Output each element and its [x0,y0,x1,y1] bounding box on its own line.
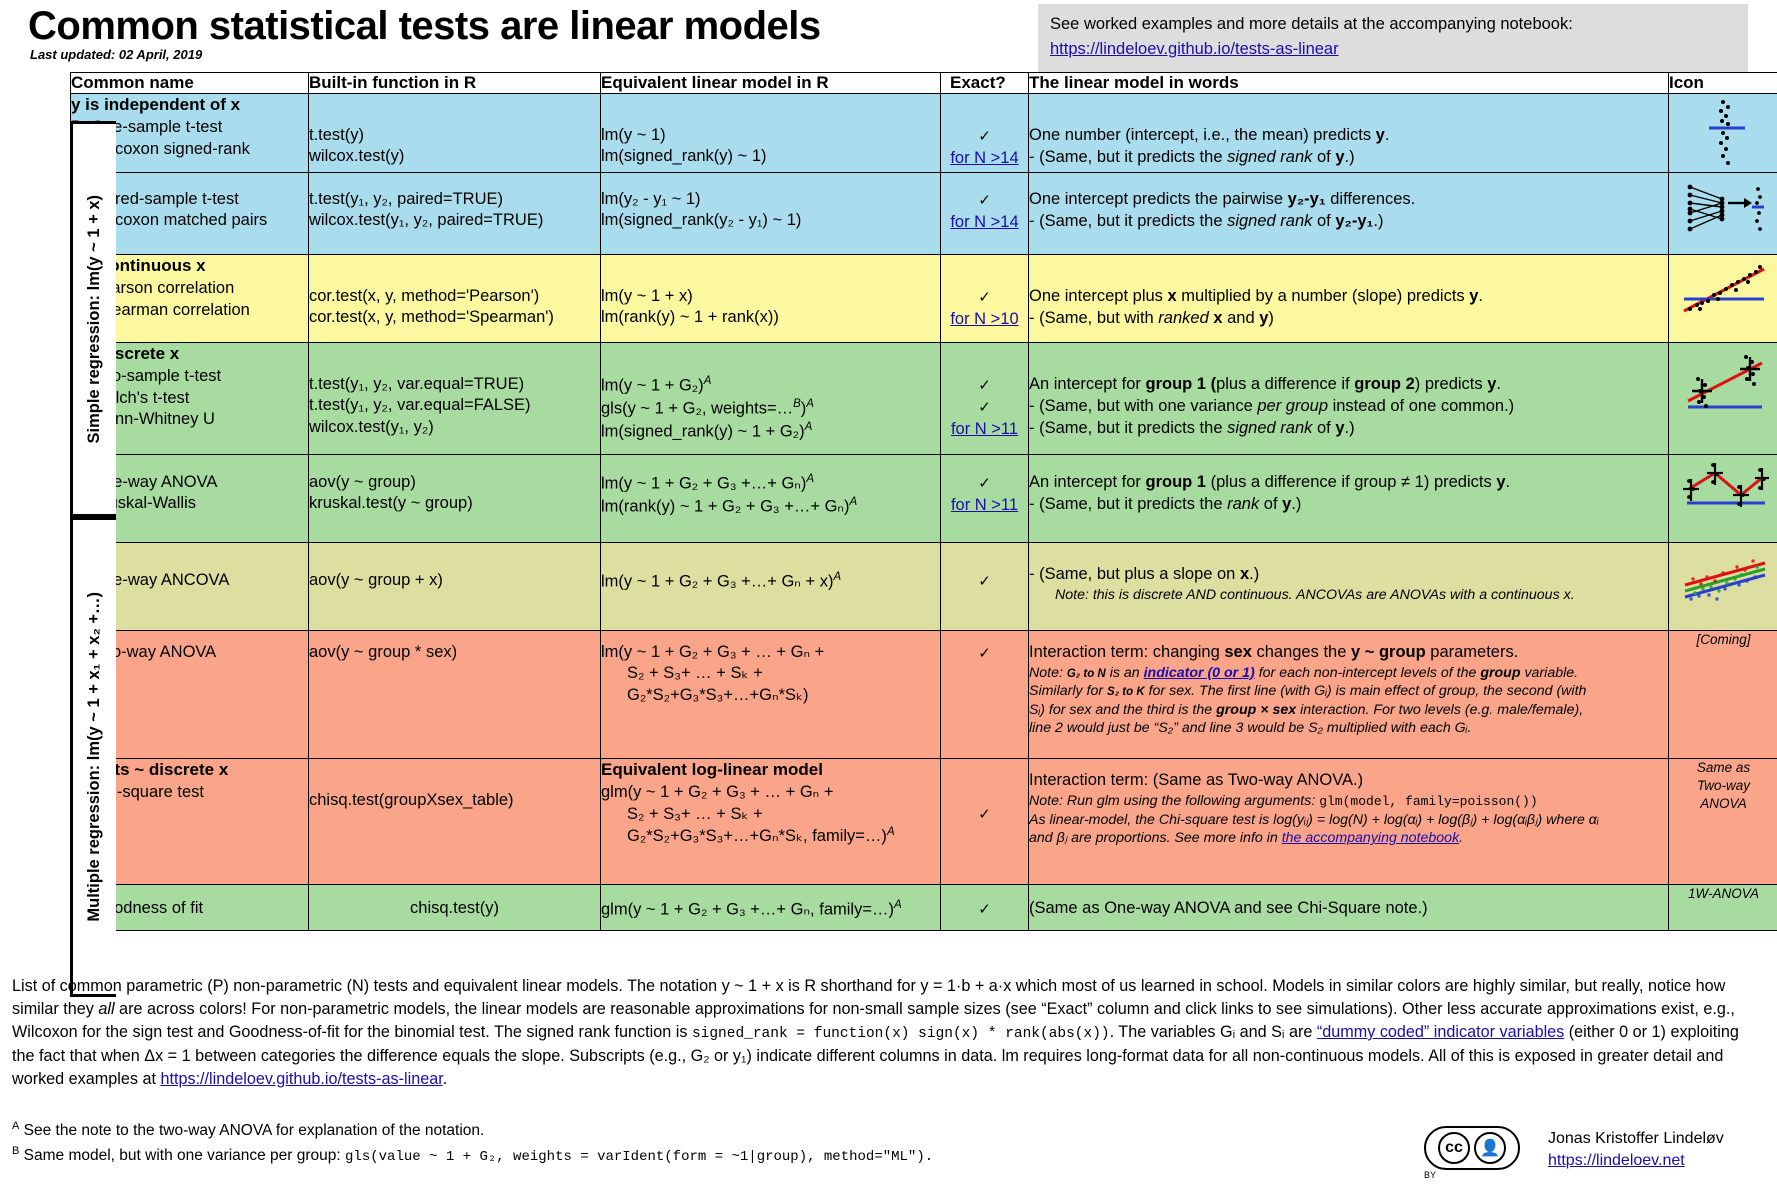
cell-linear-model: lm(y₂ - y₁ ~ 1) lm(signed_rank(y₂ - y₁) … [601,173,941,255]
model-heading: Equivalent log-linear model [601,759,940,781]
check-icon: ✓ [978,128,991,145]
model-line: lm(rank(y) ~ 1 + G₂ + G₃ +…+ Gₙ) [601,497,849,515]
check-icon: ✓ [978,645,991,662]
func-line: chisq.test(y) [410,899,499,917]
col-common-name: Common name [71,73,309,94]
check-icon: ✓ [978,475,991,492]
table-row: P: One-way ANCOVA aov(y ~ group + x) lm(… [71,543,1777,631]
last-updated: Last updated: 02 April, 2019 [30,47,202,62]
func-line: cor.test(x, y, method='Spearman') [309,308,554,326]
cell-words: An intercept for group 1 (plus a differe… [1029,455,1669,543]
cell-exact: ✓ for N >14 [941,173,1029,255]
author-block: Jonas Kristoffer Lindeløv https://lindel… [1548,1128,1724,1173]
col-builtin-function: Built-in function in R [309,73,601,94]
model-line: glm(y ~ 1 + G₂ + G₃ +…+ Gₙ, family=…) [601,901,894,919]
paired-ttest-icon [1682,173,1766,239]
exact-link[interactable]: for N >14 [950,213,1018,231]
creative-commons-badge: cc 👤 [1424,1126,1520,1170]
cell-icon: Same as Two-way ANOVA [1669,759,1777,885]
cell-words: Interaction term: (Same as Two-way ANOVA… [1029,759,1669,885]
section-label-multiple-text: Multiple regression: lm(y ~ 1 + x₁ + x₂ … [85,592,104,922]
cell-exact: ✓ for N >11 [941,455,1029,543]
footnote-b: B Same model, but with one variance per … [12,1143,933,1169]
cell-builtin-function: t.test(y) wilcox.test(y) [309,94,601,173]
cell-linear-model: lm(y ~ 1 + G₂ + G₃ +…+ Gₙ)A lm(rank(y) ~… [601,455,941,543]
func-line: aov(y ~ group * sex) [309,643,457,661]
model-line: G₂*S₂+G₃*S₃+…+Gₙ*Sₖ) [601,685,809,706]
table-row: Counts ~ discrete x N: Chi-square test c… [71,759,1777,885]
two-sample-ttest-icon [1678,343,1770,423]
func-line: wilcox.test(y) [309,147,404,165]
cell-linear-model: lm(y ~ 1 + G₂ + G₃ + … + Gₙ + S₂ + S₃+ …… [601,631,941,759]
cell-words: (Same as One-way ANOVA and see Chi-Squar… [1029,885,1669,931]
cell-builtin-function: chisq.test(groupXsex_table) [309,759,601,885]
exact-link[interactable]: for N >10 [950,310,1018,328]
dummy-coded-link[interactable]: “dummy coded” indicator variables [1317,1023,1564,1041]
table-row: P: One-way ANOVA N: Kruskal-Wallis aov(y… [71,455,1777,543]
model-line: glm(y ~ 1 + G₂ + G₃ + … + Gₙ + [601,783,833,801]
cell-linear-model: lm(y ~ 1 + G₂)A gls(y ~ 1 + G₂, weights=… [601,343,941,455]
one-way-anova-icon [1677,455,1771,525]
cell-linear-model: glm(y ~ 1 + G₂ + G₃ +…+ Gₙ, family=…)A [601,885,941,931]
icon-same-as-label: Same as Two-way ANOVA [1697,760,1750,811]
tests-as-linear-link[interactable]: https://lindeloev.github.io/tests-as-lin… [160,1070,442,1088]
check-icon: ✓ [978,289,991,306]
table-row: N: Goodness of fit chisq.test(y) glm(y ~… [71,885,1777,931]
cell-builtin-function: t.test(y₁, y₂, paired=TRUE) wilcox.test(… [309,173,601,255]
header: Common statistical tests are linear mode… [18,0,1759,72]
cell-icon [1669,173,1777,255]
cell-icon [1669,455,1777,543]
func-line: wilcox.test(y₁, y₂, paired=TRUE) [309,211,543,229]
model-line: lm(signed_rank(y₂ - y₁) ~ 1) [601,211,801,229]
cell-exact: ✓ for N >10 [941,255,1029,343]
func-line: t.test(y₁, y₂, paired=TRUE) [309,190,503,208]
func-line: t.test(y) [309,126,364,144]
footer-description: List of common parametric (P) non-parame… [12,975,1764,1091]
notebook-link[interactable]: https://lindeloev.github.io/tests-as-lin… [1050,40,1339,58]
func-line: kruskal.test(y ~ group) [309,494,473,512]
col-icon: Icon [1669,73,1777,94]
check-icon: ✓ [978,573,991,590]
row-note: Note: Run glm using the following argume… [1029,792,1668,848]
check-icon: ✓ [978,377,991,394]
page-title: Common statistical tests are linear mode… [28,4,821,49]
model-line: lm(y ~ 1) [601,126,666,144]
author-link[interactable]: https://lindeloev.net [1548,1152,1685,1169]
check-icon: ✓ [978,192,991,209]
model-line: gls(y ~ 1 + G₂, weights=… [601,399,793,417]
cell-linear-model: lm(y ~ 1) lm(signed_rank(y) ~ 1) [601,94,941,173]
cell-icon [1669,94,1777,173]
table-row: y is independent of x P: One-sample t-te… [71,94,1777,173]
func-line: cor.test(x, y, method='Pearson') [309,287,539,305]
cell-icon: [Coming] [1669,631,1777,759]
check-icon: ✓ [978,399,991,416]
model-line: lm(y ~ 1 + G₂ + G₃ + … + Gₙ + [601,643,824,661]
exact-link[interactable]: for N >14 [950,149,1018,167]
func-line: chisq.test(groupXsex_table) [309,791,514,809]
row-note: Note: G₂ to N is an indicator (0 or 1) f… [1029,664,1668,738]
cell-icon [1669,255,1777,343]
tests-table: Common name Built-in function in R Equiv… [70,72,1777,931]
model-line: G₂*S₂+G₃*S₃+…+Gₙ*Sₖ, family=…) [601,826,887,847]
model-line: S₂ + S₃+ … + Sₖ + [601,804,763,825]
cell-exact: ✓ [941,759,1029,885]
icon-1w-anova-label: 1W-ANOVA [1688,886,1759,901]
cell-icon: 1W-ANOVA [1669,885,1777,931]
model-line: lm(y₂ - y₁ ~ 1) [601,190,701,208]
cell-words: Interaction term: changing sex changes t… [1029,631,1669,759]
ancova-icon [1677,543,1771,605]
cell-builtin-function: t.test(y₁, y₂, var.equal=TRUE) t.test(y₁… [309,343,601,455]
check-icon: ✓ [978,806,991,823]
exact-link[interactable]: for N >11 [951,420,1018,438]
cell-exact: ✓ [941,631,1029,759]
model-line: lm(y ~ 1 + G₂ + G₃ +…+ Gₙ) [601,475,806,493]
cell-builtin-function: cor.test(x, y, method='Pearson') cor.tes… [309,255,601,343]
notebook-callout: See worked examples and more details at … [1038,4,1748,72]
cell-words: One number (intercept, i.e., the mean) p… [1029,94,1669,173]
cell-builtin-function: aov(y ~ group * sex) [309,631,601,759]
model-line: lm(y ~ 1 + G₂ + G₃ +…+ Gₙ + x) [601,573,833,591]
cell-words: An intercept for group 1 (plus a differe… [1029,343,1669,455]
accompanying-notebook-link[interactable]: the accompanying notebook [1282,830,1459,846]
model-line: S₂ + S₃+ … + Sₖ + [601,663,763,684]
table-header-row: Common name Built-in function in R Equiv… [71,73,1777,94]
func-line: t.test(y₁, y₂, var.equal=TRUE) [309,375,524,393]
exact-link[interactable]: for N >11 [951,496,1018,514]
section-label-simple: Simple regression: lm(y ~ 1 + x) [70,121,116,517]
cell-linear-model: lm(y ~ 1 + x) lm(rank(y) ~ 1 + rank(x)) [601,255,941,343]
tests-table-wrapper: Simple regression: lm(y ~ 1 + x) Multipl… [70,72,1777,931]
cell-exact: ✓ [941,543,1029,631]
icon-coming-label: [Coming] [1696,632,1750,647]
author-name: Jonas Kristoffer Lindeløv [1548,1128,1724,1150]
table-row: P: Two-way ANOVA aov(y ~ group * sex) lm… [71,631,1777,759]
correlation-icon [1678,255,1770,321]
cell-exact: ✓ ✓ for N >11 [941,343,1029,455]
cell-linear-model: Equivalent log-linear model glm(y ~ 1 + … [601,759,941,885]
indicator-link[interactable]: indicator (0 or 1) [1144,665,1255,681]
model-line: lm(signed_rank(y) ~ 1 + G₂) [601,422,805,440]
func-line: aov(y ~ group) [309,473,416,491]
notebook-callout-text: See worked examples and more details at … [1050,15,1573,33]
cell-linear-model: lm(y ~ 1 + G₂ + G₃ +…+ Gₙ + x)A [601,543,941,631]
one-sample-ttest-icon [1689,94,1759,172]
func-line: t.test(y₁, y₂, var.equal=FALSE) [309,396,531,414]
table-row: y ~ continuous x P: Pearson correlation … [71,255,1777,343]
cell-words: One intercept plus x multiplied by a num… [1029,255,1669,343]
row-note: Note: this is discrete AND continuous. A… [1029,586,1668,604]
footnotes: A See the note to the two-way ANOVA for … [12,1118,933,1169]
table-row: P: Paired-sample t-test N: Wilcoxon matc… [71,173,1777,255]
cell-words: One intercept predicts the pairwise y₂-y… [1029,173,1669,255]
cc-by-icon: 👤 [1474,1132,1506,1164]
cell-exact: ✓ [941,885,1029,931]
func-line: wilcox.test(y₁, y₂) [309,418,434,436]
table-row: y ~ discrete x P: Two-sample t-test P: W… [71,343,1777,455]
cheatsheet-page: Common statistical tests are linear mode… [0,0,1777,1186]
col-equivalent-model: Equivalent linear model in R [601,73,941,94]
section-label-multiple: Multiple regression: lm(y ~ 1 + x₁ + x₂ … [70,517,116,997]
cell-builtin-function: chisq.test(y) [309,885,601,931]
check-icon: ✓ [978,901,991,918]
cell-icon [1669,543,1777,631]
cc-icon: cc [1438,1132,1470,1164]
footnote-a: A See the note to the two-way ANOVA for … [12,1118,933,1143]
model-line: lm(signed_rank(y) ~ 1) [601,147,767,165]
cell-words: - (Same, but plus a slope on x.) Note: t… [1029,543,1669,631]
group-heading: y is independent of x [71,94,308,116]
col-words: The linear model in words [1029,73,1669,94]
model-line: lm(y ~ 1 + x) [601,287,693,305]
func-line: aov(y ~ group + x) [309,571,443,589]
cell-exact: ✓ for N >14 [941,94,1029,173]
cell-icon [1669,343,1777,455]
cc-by-label: BY [1424,1170,1436,1180]
model-line: lm(rank(y) ~ 1 + rank(x)) [601,308,779,326]
cell-builtin-function: aov(y ~ group + x) [309,543,601,631]
section-label-simple-text: Simple regression: lm(y ~ 1 + x) [85,195,104,444]
model-line: lm(y ~ 1 + G₂) [601,377,704,395]
col-exact: Exact? [941,73,1029,94]
cell-builtin-function: aov(y ~ group) kruskal.test(y ~ group) [309,455,601,543]
